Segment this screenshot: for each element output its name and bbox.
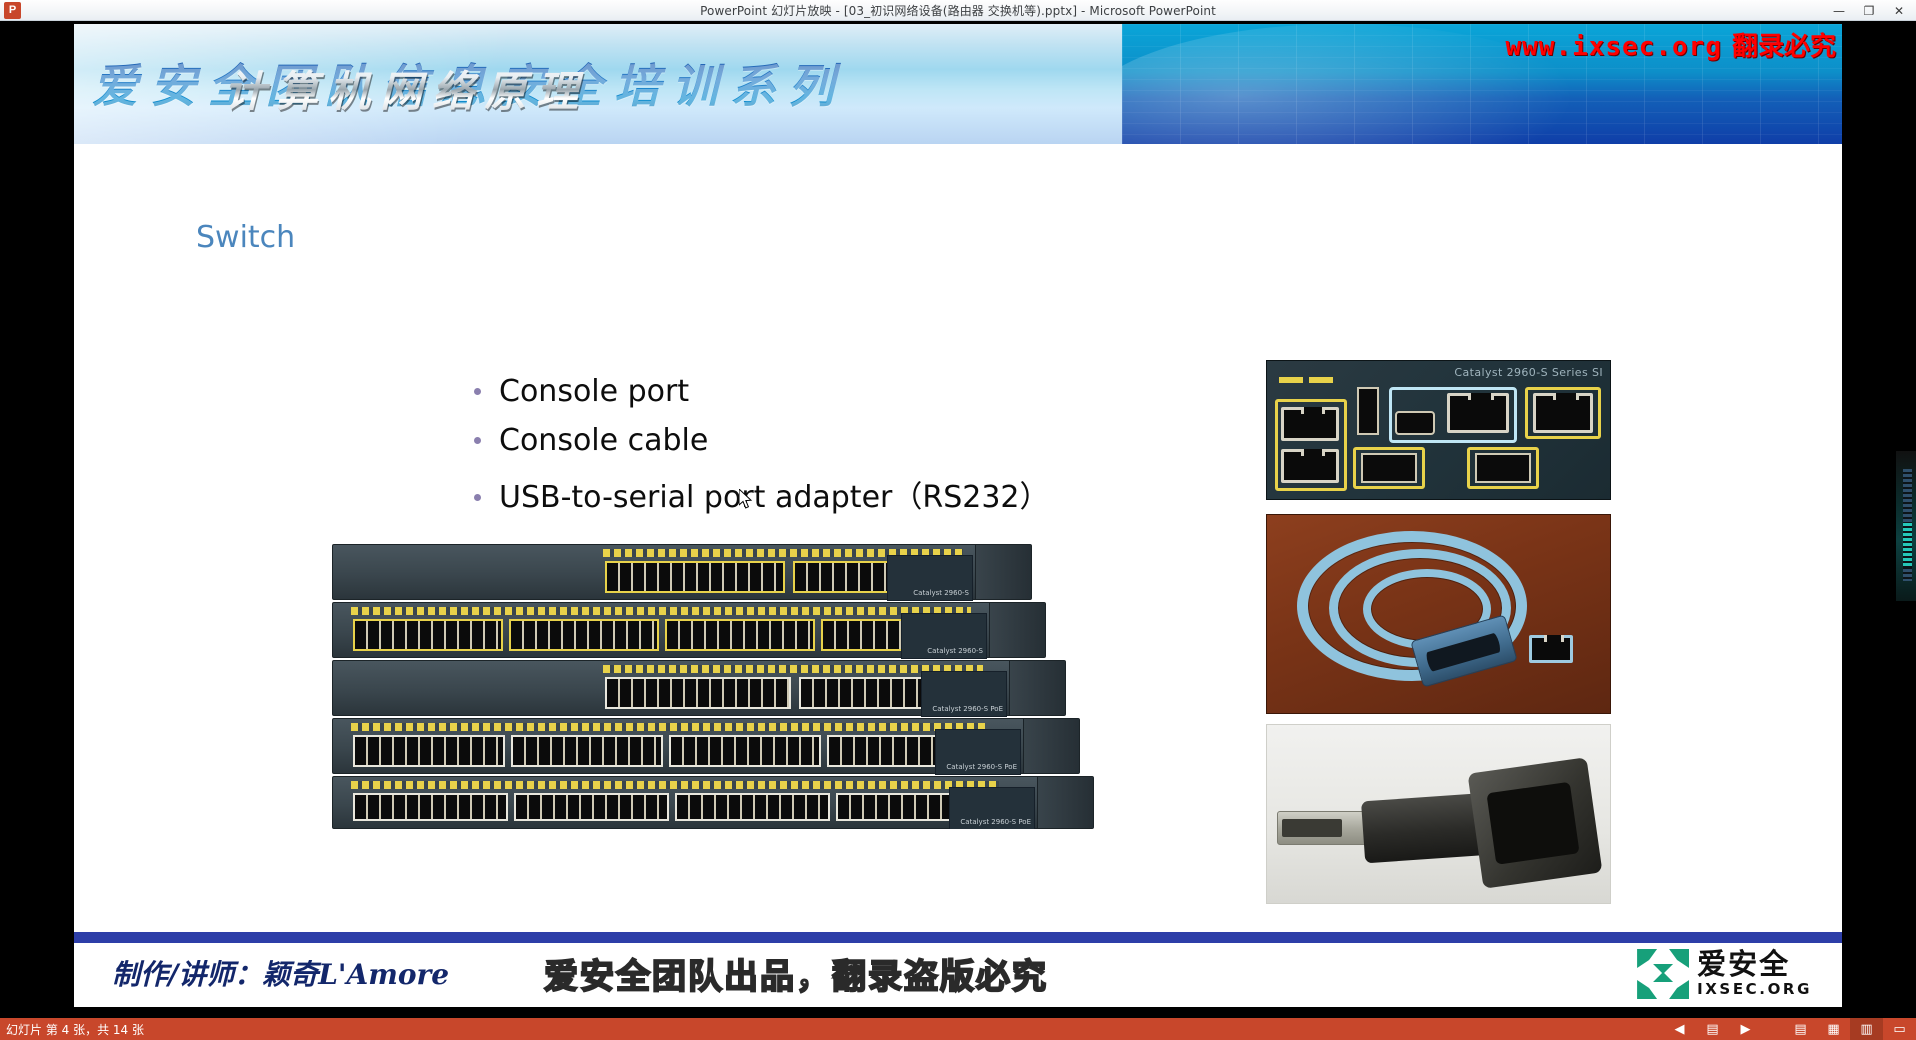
rj45-port-icon: [1281, 407, 1339, 441]
status-leds: [351, 723, 985, 731]
port-bank: [514, 793, 669, 821]
model-label: Catalyst 2960-S PoE: [946, 763, 1017, 771]
slide-sorter-view-button[interactable]: ▦: [1817, 1018, 1850, 1040]
bullet-dot-icon: [474, 437, 481, 444]
powerpoint-window: P PowerPoint 幻灯片放映 - [03_初识网络设备(路由器 交换机等…: [0, 0, 1916, 1040]
watermark: www.ixsec.org翻录必究: [1505, 26, 1836, 63]
port-bank: [353, 793, 508, 821]
list-item: Console port: [474, 374, 1124, 409]
bullet-text: USB-to-serial port adapter（RS232）: [499, 472, 1050, 516]
switch-console-port-photo: Catalyst 2960-S Series SI: [1266, 360, 1611, 500]
slide-counter: 幻灯片 第 4 张，共 14 张: [6, 1021, 144, 1038]
footer-author: 制作/讲师：颖奇L'Amore: [112, 953, 449, 993]
console-cable-photo: [1266, 514, 1611, 714]
rj45-port-icon: [1533, 393, 1593, 433]
bullet-text: Console port: [499, 374, 689, 409]
cisco-switch-stack-photo: Catalyst 2960-S Catalyst 2960-S: [332, 544, 1142, 829]
port-bank: [605, 677, 791, 709]
port-bank: [353, 619, 503, 651]
catalyst-model-label: Catalyst 2960-S Series SI: [1454, 366, 1603, 379]
watermark-note: 翻录必究: [1732, 32, 1836, 62]
mini-usb-console-icon: [1395, 411, 1435, 435]
port-bank: [669, 735, 821, 767]
model-label: Catalyst 2960-S: [913, 589, 969, 597]
window-title: PowerPoint 幻灯片放映 - [03_初识网络设备(路由器 交换机等).…: [0, 2, 1916, 19]
port-bank: [511, 735, 663, 767]
logo-x-icon: [1637, 947, 1689, 999]
model-label: Catalyst 2960-S PoE: [932, 705, 1003, 713]
status-leds: [351, 781, 999, 789]
console-rj45-port-icon: [1447, 393, 1509, 433]
rj45-connector: [1529, 635, 1573, 663]
usb-to-serial-adapter-photo: [1266, 724, 1611, 904]
minimize-button[interactable]: —: [1824, 0, 1854, 21]
logo-chinese-name: 爱安全: [1697, 950, 1812, 979]
mouse-cursor: [739, 489, 753, 510]
slide-show-button[interactable]: ▭: [1883, 1018, 1916, 1040]
slideshow-stage[interactable]: 爱安全团队信息安全培训系列 计算机网络原理 www.ixsec.org翻录必究 …: [0, 21, 1916, 1018]
logo-domain: IXSEC.ORG: [1697, 982, 1812, 997]
window-controls: — ❐ ✕: [1824, 0, 1914, 21]
status-bar-tools: ◀ ▤ ▶ ▤ ▦ ▥ ▭: [1663, 1018, 1916, 1040]
watermark-url: www.ixsec.org: [1505, 32, 1722, 62]
slide-banner: 爱安全团队信息安全培训系列 计算机网络原理 www.ixsec.org翻录必究: [74, 24, 1842, 144]
title-bar: P PowerPoint 幻灯片放映 - [03_初识网络设备(路由器 交换机等…: [0, 0, 1916, 21]
chassis-side: [975, 545, 1031, 599]
normal-view-button[interactable]: ▤: [1784, 1018, 1817, 1040]
status-bar: 幻灯片 第 4 张，共 14 张 ◀ ▤ ▶ ▤ ▦ ▥ ▭: [0, 1018, 1916, 1040]
port-bank: [605, 561, 785, 593]
port-bank: [509, 619, 659, 651]
previous-slide-button[interactable]: ◀: [1663, 1018, 1696, 1040]
model-label: Catalyst 2960-S: [927, 647, 983, 655]
sfp-slot-icon: [1475, 453, 1531, 483]
bullet-list: Console port Console cable USB-to-serial…: [474, 374, 1124, 530]
restore-button[interactable]: ❐: [1854, 0, 1884, 21]
screen-edge-artifact: [1896, 451, 1916, 601]
slide-footer: 制作/讲师：颖奇L'Amore 爱安全团队出品，翻录盗版必究 爱安全 IXSEC…: [74, 943, 1842, 1007]
port-led: [1309, 377, 1333, 383]
logo-text: 爱安全 IXSEC.ORG: [1697, 950, 1812, 997]
sfp-slot-icon: [1357, 387, 1379, 435]
footer-notice: 爱安全团队出品，翻录盗版必究: [544, 949, 1048, 998]
edge-bars-accent: [1903, 523, 1912, 567]
footer-divider: [74, 932, 1842, 943]
rj45-port-icon: [1281, 449, 1339, 483]
next-slide-button[interactable]: ▶: [1729, 1018, 1762, 1040]
status-leds: [351, 607, 971, 615]
port-led: [1279, 377, 1303, 383]
bullet-dot-icon: [474, 494, 481, 501]
chassis-side: [1009, 661, 1065, 715]
list-item: Console cable: [474, 423, 1124, 458]
switch-unit: Catalyst 2960-S PoE: [332, 660, 1066, 716]
switch-unit: Catalyst 2960-S PoE: [332, 776, 1094, 829]
switch-unit: Catalyst 2960-S PoE: [332, 718, 1080, 774]
port-bank: [675, 793, 830, 821]
notes-button[interactable]: ▤: [1696, 1018, 1729, 1040]
chassis-side: [989, 603, 1045, 657]
usb-a-plug: [1277, 811, 1373, 845]
serial-db9-connector: [1468, 757, 1603, 889]
banner-sub-title: 计算机网络原理: [224, 58, 588, 119]
bullet-dot-icon: [474, 388, 481, 395]
slide-canvas[interactable]: 爱安全团队信息安全培训系列 计算机网络原理 www.ixsec.org翻录必究 …: [74, 24, 1842, 1007]
bullet-text: Console cable: [499, 423, 708, 458]
close-button[interactable]: ✕: [1884, 0, 1914, 21]
slide-title: Switch: [196, 220, 295, 255]
chassis-side: [1023, 719, 1079, 773]
switch-unit: Catalyst 2960-S: [332, 544, 1032, 600]
list-item: USB-to-serial port adapter（RS232）: [474, 472, 1124, 516]
ixsec-logo: 爱安全 IXSEC.ORG: [1637, 947, 1812, 999]
port-bank: [353, 735, 505, 767]
chassis-side: [1037, 777, 1093, 828]
sfp-slot-icon: [1361, 453, 1417, 483]
switch-unit: Catalyst 2960-S: [332, 602, 1046, 658]
port-bank: [665, 619, 815, 651]
model-label: Catalyst 2960-S PoE: [960, 818, 1031, 826]
reading-view-button[interactable]: ▥: [1850, 1018, 1883, 1040]
